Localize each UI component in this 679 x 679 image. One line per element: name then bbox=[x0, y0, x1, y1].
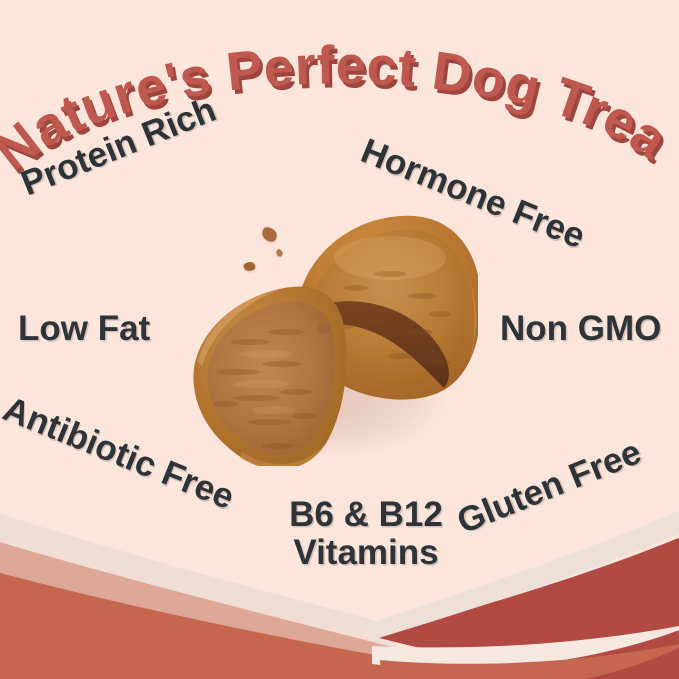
benefit-label-vitamins-line1: B6 & B12 bbox=[276, 496, 456, 534]
product-image-broken-dog-treat bbox=[178, 196, 478, 466]
benefit-label-vitamins: B6 & B12 Vitamins bbox=[276, 496, 456, 572]
product-infographic-poster: Nature's Perfect Dog Treat Nature's Perf… bbox=[0, 0, 679, 679]
benefit-label-vitamins-line2: Vitamins bbox=[276, 534, 456, 572]
benefit-label-low-fat: Low Fat bbox=[18, 310, 150, 348]
benefit-label-non-gmo: Non GMO bbox=[500, 310, 661, 348]
treat-piece-lower bbox=[193, 287, 346, 466]
